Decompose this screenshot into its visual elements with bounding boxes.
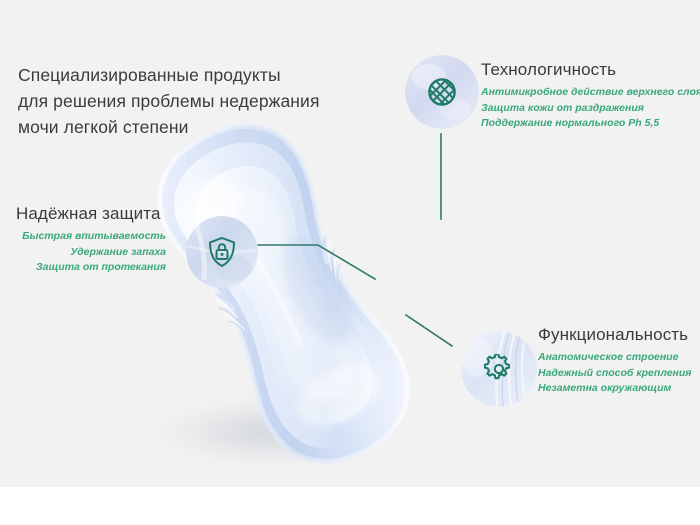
page-title: Специализированные продукты для решения … [18,62,318,140]
feature-block-function: Функциональность Анатомическое строение … [538,325,692,397]
feature-icon-bubble-protection[interactable] [186,216,258,288]
feature-heading-tech: Технологичность [481,60,700,80]
feature-bullet-protection-1: Быстрая впитываемость [0,229,166,245]
page-title-line-2: для решения проблемы недержания [18,88,318,114]
feature-bullet-protection-3: Защита от протекания [0,260,166,276]
product-illustration [120,110,450,490]
feature-bullet-tech-3: Поддержание нормального Ph 5,5 [481,116,700,132]
feature-bullet-tech-2: Защита кожи от раздражения [481,101,700,117]
poster-canvas: Специализированные продукты для решения … [0,0,700,525]
page-title-line-1: Специализированные продукты [18,62,318,88]
feature-block-tech: Технологичность Антимикробное действие в… [481,60,700,132]
feature-bullet-function-1: Анатомическое строение [538,350,692,366]
feature-bullet-function-2: Надежный способ крепления [538,366,692,382]
page-title-line-3: мочи легкой степени [18,114,318,140]
feature-heading-protection: Надёжная защита [0,204,166,224]
feature-icon-bubble-tech[interactable] [405,55,479,129]
feature-bullet-function-3: Незаметна окружающим [538,381,692,397]
bottom-white-band [0,487,700,525]
feature-block-protection: Надёжная защита Быстрая впитываемость Уд… [0,204,166,276]
feature-bullet-protection-2: Удержание запаха [0,245,166,261]
feature-icon-bubble-function[interactable] [461,331,537,407]
shield-lock-icon [186,216,258,288]
gear-icon [461,331,537,407]
feature-heading-function: Функциональность [538,325,692,345]
mesh-net-icon [405,55,479,129]
feature-bullet-tech-1: Антимикробное действие верхнего слоя [481,85,700,101]
product-pad-graphic [120,110,450,490]
